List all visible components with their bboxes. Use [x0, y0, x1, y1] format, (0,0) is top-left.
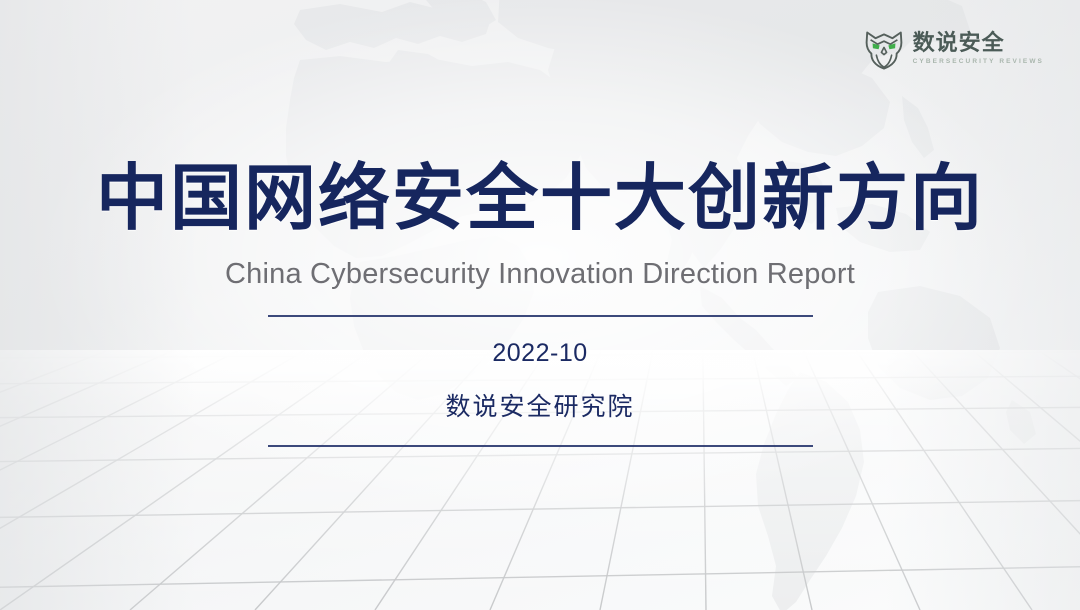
report-cover-slide: 数说安全 CYBERSECURITY REVIEWS 中国网络安全十大创新方向 …: [0, 0, 1080, 610]
divider-bottom: [268, 445, 813, 447]
cover-content: 中国网络安全十大创新方向 China Cybersecurity Innovat…: [0, 0, 1080, 610]
brand-tagline-en: CYBERSECURITY REVIEWS: [913, 58, 1044, 65]
brand-name-cn: 数说安全: [913, 31, 1044, 54]
brand-logo: 数说安全 CYBERSECURITY REVIEWS: [864, 26, 1044, 70]
report-title-cn: 中国网络安全十大创新方向: [96, 162, 984, 234]
divider-top: [268, 315, 813, 317]
owl-logo-icon: [864, 26, 904, 70]
report-title-en: China Cybersecurity Innovation Direction…: [225, 258, 855, 291]
report-date: 2022-10: [492, 339, 587, 368]
report-organization: 数说安全研究院: [445, 387, 634, 423]
